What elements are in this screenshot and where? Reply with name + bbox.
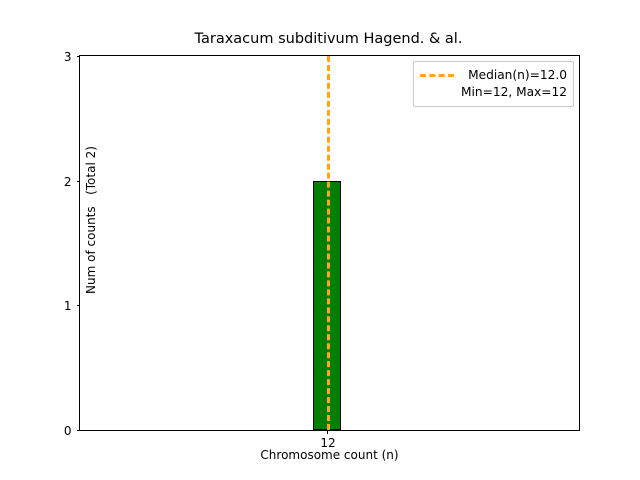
legend-line-2: Min=12, Max=12 [461, 84, 567, 101]
legend-entry-median: Median(n)=12.0 Min=12, Max=12 [461, 67, 567, 100]
y-tick-label-0: 0 [64, 423, 72, 439]
y-tick-label-3: 3 [64, 49, 72, 65]
y-tick-3: 3 [77, 56, 81, 57]
y-tick-2: 2 [77, 181, 81, 182]
x-tick-12: 12 [327, 430, 328, 434]
legend: Median(n)=12.0 Min=12, Max=12 [413, 61, 574, 107]
y-axis-label: Num of counts (Total 2) [84, 33, 98, 407]
y-tick-label-1: 1 [64, 298, 72, 314]
x-axis-label: Chromosome count (n) [80, 448, 579, 462]
y-tick-1: 1 [77, 305, 81, 306]
median-line [327, 56, 330, 430]
y-tick-0: 0 [77, 430, 81, 431]
y-tick-label-2: 2 [64, 174, 72, 190]
chart-figure: Taraxacum subditivum Hagend. & al. Num o… [0, 0, 640, 480]
plot-area: Num of counts (Total 2) 0 1 2 3 12 Chrom… [79, 55, 580, 431]
legend-line-1: Median(n)=12.0 [461, 67, 567, 84]
dashed-line-icon [420, 67, 454, 83]
chart-title: Taraxacum subditivum Hagend. & al. [79, 30, 578, 48]
